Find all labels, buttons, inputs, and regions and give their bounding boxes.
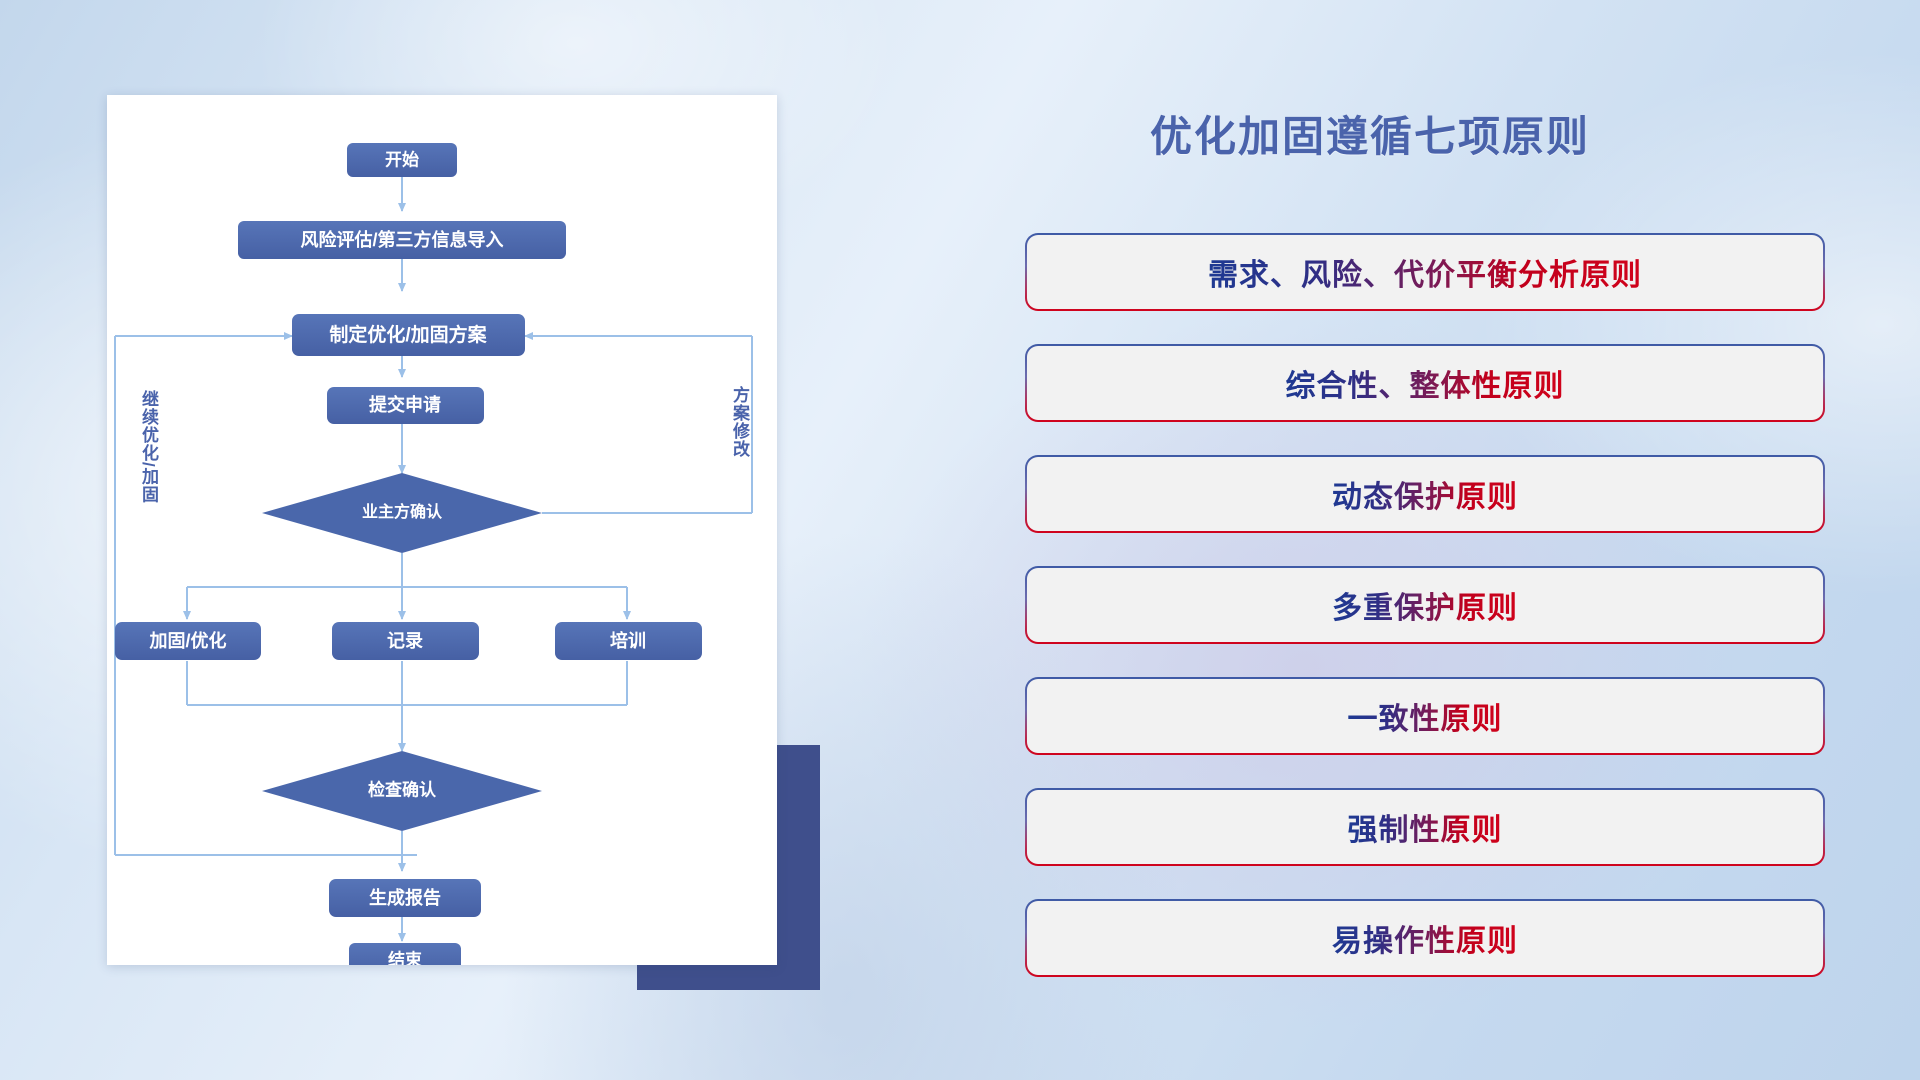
principle-card-inner: 一致性原则 [1027,679,1823,753]
principle-label: 需求、风险、代价平衡分析原则 [1208,250,1642,294]
principle-card[interactable]: 强制性原则 [1025,788,1825,866]
principle-label: 综合性、整体性原则 [1286,361,1565,405]
flowchart-panel: 开始 风险评估/第三方信息导入 制定优化/加固方案 提交申请 业主方确认 加固/… [107,95,777,965]
flow-node-train-label: 培训 [610,630,646,651]
principle-label: 动态保护原则 [1332,472,1518,516]
flow-node-record-label: 记录 [387,631,423,651]
flow-node-owner-confirm-label: 业主方确认 [362,502,443,521]
flow-node-owner-confirm[interactable]: 业主方确认 [262,473,542,553]
flow-node-check-label: 检查确认 [368,779,437,799]
flow-connectors [115,175,752,941]
flow-node-report[interactable]: 生成报告 [329,879,481,917]
flow-node-train[interactable]: 培训 [555,622,702,660]
principle-card-inner: 易操作性原则 [1027,901,1823,975]
principle-label: 强制性原则 [1348,805,1503,849]
flow-node-start[interactable]: 开始 [347,143,457,177]
flow-node-submit-label: 提交申请 [369,394,441,415]
flow-node-check[interactable]: 检查确认 [262,751,542,831]
flow-node-end-label: 结束 [388,949,422,965]
principle-card-inner: 多重保护原则 [1027,568,1823,642]
flow-node-start-label: 开始 [385,149,419,169]
principle-card-inner: 动态保护原则 [1027,457,1823,531]
principle-card-inner: 综合性、整体性原则 [1027,346,1823,420]
principle-card[interactable]: 多重保护原则 [1025,566,1825,644]
flow-node-record[interactable]: 记录 [332,622,479,660]
principle-card-inner: 强制性原则 [1027,790,1823,864]
flow-node-plan-label: 制定优化/加固方案 [329,323,487,346]
flow-node-report-label: 生成报告 [369,887,441,908]
flow-node-reinforce-label: 加固/优化 [148,630,226,651]
principles-list: 需求、风险、代价平衡分析原则 综合性、整体性原则 动态保护原则 多重保护原则 一… [1025,233,1825,1010]
principles-column: 优化加固遵循七项原则 需求、风险、代价平衡分析原则 综合性、整体性原则 动态保护… [1020,0,1850,1080]
flow-node-submit[interactable]: 提交申请 [327,387,484,424]
flow-edge-label-right: 方案修改 [731,386,748,458]
flow-node-assess[interactable]: 风险评估/第三方信息导入 [238,221,566,259]
flowchart-diagram: 开始 风险评估/第三方信息导入 制定优化/加固方案 提交申请 业主方确认 加固/… [107,95,777,965]
principle-label: 易操作性原则 [1332,916,1518,960]
principle-card-inner: 需求、风险、代价平衡分析原则 [1027,235,1823,309]
principle-label: 一致性原则 [1348,694,1503,738]
flow-node-assess-label: 风险评估/第三方信息导入 [301,229,504,250]
principle-card[interactable]: 需求、风险、代价平衡分析原则 [1025,233,1825,311]
principle-card[interactable]: 一致性原则 [1025,677,1825,755]
principle-card[interactable]: 易操作性原则 [1025,899,1825,977]
flow-node-end[interactable]: 结束 [349,943,461,965]
flow-node-reinforce[interactable]: 加固/优化 [115,622,261,660]
flow-node-plan[interactable]: 制定优化/加固方案 [292,314,525,356]
flow-edge-label-left: 继续优化/加固 [140,390,157,504]
page-title: 优化加固遵循七项原则 [1150,103,1590,164]
principle-card[interactable]: 综合性、整体性原则 [1025,344,1825,422]
principle-label: 多重保护原则 [1332,583,1518,627]
principle-card[interactable]: 动态保护原则 [1025,455,1825,533]
